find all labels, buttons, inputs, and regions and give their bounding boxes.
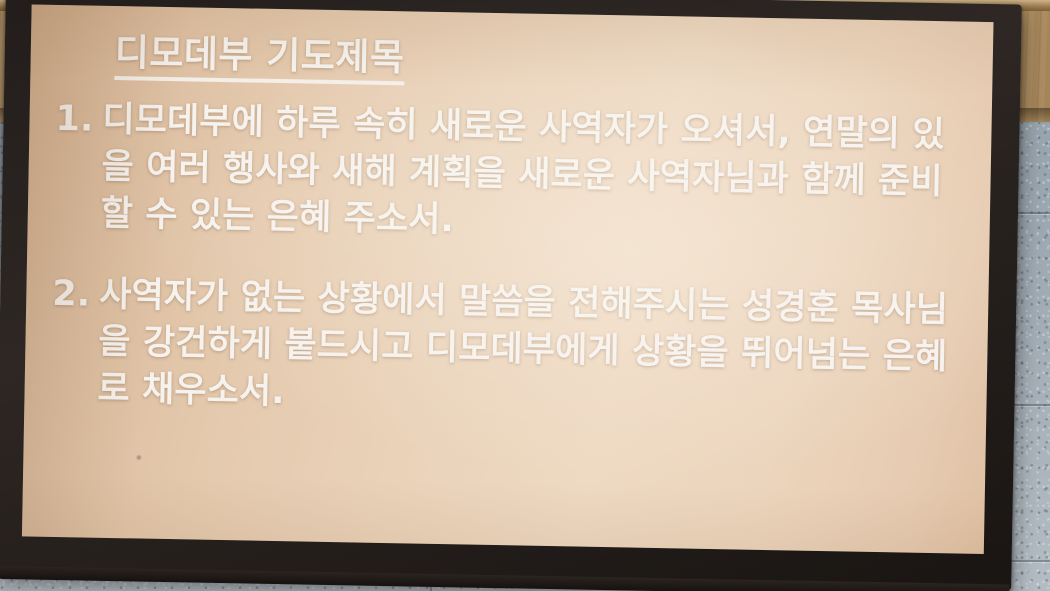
slide-title: 디모데부 기도제목 — [114, 32, 405, 86]
prayer-request-item-2: 2. 사역자가 없는 상황에서 말씀을 전해주시는 성경훈 목사님을 강건하게 … — [46, 271, 972, 429]
slide-content: 디모데부 기도제목 1. 디모데부에 하루 속히 새로운 사역자가 오셔서, 연… — [22, 4, 994, 554]
projection-surface: 디모데부 기도제목 1. 디모데부에 하루 속히 새로운 사역자가 오셔서, 연… — [22, 4, 994, 554]
prayer-request-text-2: 사역자가 없는 상황에서 말씀을 전해주시는 성경훈 목사님을 강건하게 붙드시… — [97, 272, 973, 429]
projection-screen-photo: 디모데부 기도제목 1. 디모데부에 하루 속히 새로운 사역자가 오셔서, 연… — [0, 0, 1050, 591]
prayer-request-number-1: 1. — [51, 96, 94, 144]
prayer-request-list: 1. 디모데부에 하루 속히 새로운 사역자가 오셔서, 연말의 있을 여러 행… — [46, 96, 976, 428]
prayer-request-item-1: 1. 디모데부에 하루 속히 새로운 사역자가 오셔서, 연말의 있을 여러 행… — [49, 96, 975, 254]
prayer-request-text-1: 디모데부에 하루 속히 새로운 사역자가 오셔서, 연말의 있을 여러 행사와 … — [100, 97, 976, 254]
screen-assembly: 디모데부 기도제목 1. 디모데부에 하루 속히 새로운 사역자가 오셔서, 연… — [0, 0, 1022, 591]
prayer-request-number-2: 2. — [48, 271, 91, 319]
